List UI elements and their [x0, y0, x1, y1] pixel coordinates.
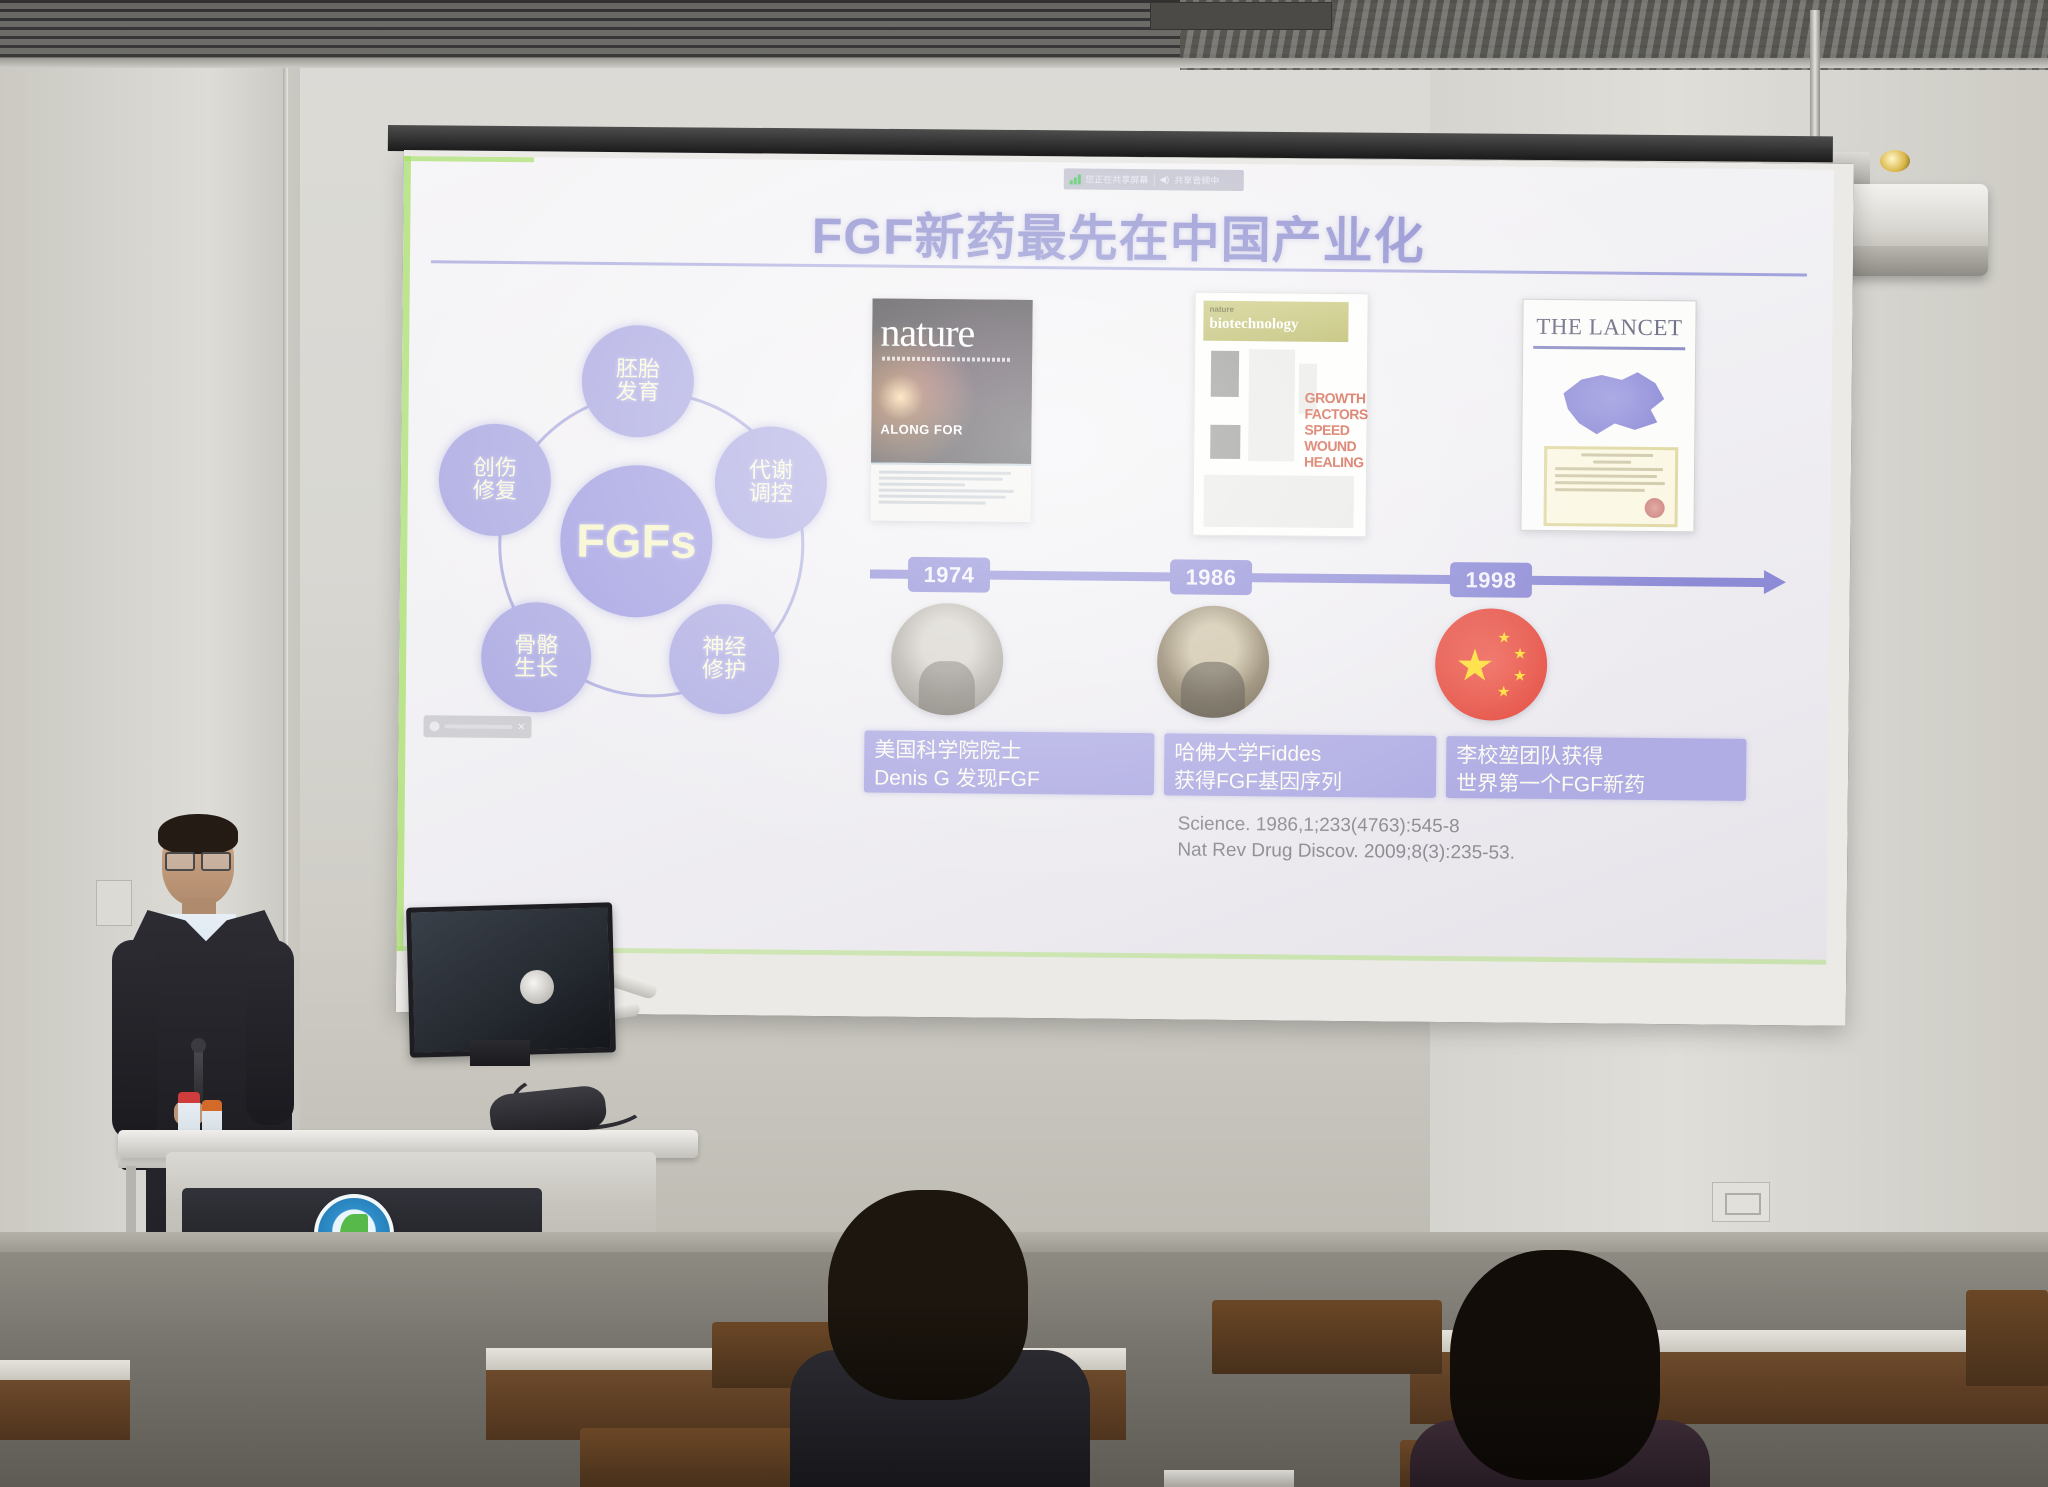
caption-3-line-2: 世界第一个FGF新药: [1456, 770, 1736, 800]
lancet-masthead: THE LANCET: [1523, 314, 1695, 342]
flag-star-2: ★: [1513, 647, 1527, 662]
mindmap-node-wound-repair: 创伤 修复: [438, 423, 551, 536]
journal-cover-nature-biotechnology: nature biotechnology GROWTH FACTORS SPEE…: [1192, 292, 1368, 538]
timeline-year-1: 1974: [908, 557, 990, 593]
timeline-caption-group: 美国科学院院士 Denis G 发现FGF 哈佛大学Fiddes 获得FGF基因…: [864, 730, 1805, 809]
certificate-seal: [1645, 498, 1665, 518]
caption-2-line-2: 获得FGF基因序列: [1174, 767, 1426, 797]
biotech-masthead-small: nature: [1210, 305, 1235, 314]
journal-cover-the-lancet: THE LANCET: [1520, 299, 1696, 533]
monitor-stand: [470, 1040, 530, 1066]
flag-star-3: ★: [1513, 669, 1527, 684]
audience-member-1-head: [828, 1190, 1028, 1400]
biotech-body-text: [1203, 475, 1353, 528]
slide-references: Science. 1986,1;233(4763):545-8 Nat Rev …: [1177, 811, 1515, 866]
flag-star-large: ★: [1455, 644, 1495, 688]
monitor-arm-joint: [520, 970, 554, 1004]
lancet-rule: [1533, 346, 1685, 350]
share-audio-text: 共享音频中: [1174, 173, 1219, 186]
certificate-graphic: [1544, 446, 1679, 527]
nature-cover-abstract: [871, 462, 1032, 522]
caption-1-line-2: Denis G 发现FGF: [874, 764, 1144, 794]
biotech-headline: GROWTH FACTORS SPEED WOUND HEALING: [1304, 390, 1357, 471]
timeline-caption-3: 李校堃团队获得 世界第一个FGF新药: [1446, 736, 1747, 801]
presenter-left-arm: [112, 940, 158, 1140]
flag-star-1: ★: [1497, 631, 1511, 646]
right-arrow-icon: [1764, 570, 1786, 594]
lectern-monitor[interactable]: [406, 902, 616, 1057]
caption-2-line-1: 哈佛大学Fiddes: [1174, 739, 1426, 769]
screen-share-banner[interactable]: 您正在共享屏幕 ◀) 共享音频中: [1064, 168, 1244, 191]
timeline-year-2: 1986: [1170, 559, 1252, 595]
presenter-right-arm: [246, 940, 294, 1125]
biotech-column-1: [1248, 349, 1295, 461]
fgf-timeline: 1974 1986 1998: [870, 553, 1800, 602]
journal-cover-nature: nature ALONG FOR: [871, 299, 1033, 523]
screenshot-root: EPSON 您正在共享屏幕 ◀) 共享音频中 FGF新药最先在中国产业化 FGF…: [0, 0, 2048, 1487]
nature-cover-line: ALONG FOR: [880, 423, 963, 437]
mindmap-node-center: FGFs: [560, 465, 713, 618]
journal-cover-group: nature ALONG FOR nature biotechnology: [870, 299, 1802, 538]
timeline-caption-2: 哈佛大学Fiddes 获得FGF基因序列: [1164, 733, 1437, 798]
biotech-figure-2: [1210, 425, 1240, 459]
front-desk-object: [1164, 1470, 1294, 1487]
onscreen-control-bar[interactable]: ✕: [423, 715, 531, 738]
audience-member-2-head: [1450, 1250, 1660, 1480]
caption-1-line-1: 美国科学院院士: [874, 737, 1144, 767]
banner-divider: [1153, 174, 1154, 186]
presentation-slide[interactable]: 您正在共享屏幕 ◀) 共享音频中 FGF新药最先在中国产业化 FGFs 胚胎 发…: [396, 156, 1834, 965]
caption-3-line-1: 李校堃团队获得: [1456, 742, 1736, 772]
close-icon[interactable]: ✕: [517, 722, 525, 733]
biotech-figure-1: [1211, 351, 1239, 397]
signal-bars-icon: [1070, 174, 1081, 184]
presenter-glasses: [165, 852, 231, 867]
timeline-caption-1: 美国科学院院士 Denis G 发现FGF: [864, 730, 1155, 795]
speaker-icon: ◀): [1159, 174, 1169, 185]
mindmap-node-embryonic-development: 胚胎 发育: [581, 325, 694, 438]
portrait-fiddes: [1157, 605, 1270, 718]
china-flag-icon: ★ ★ ★ ★ ★: [1435, 608, 1548, 721]
mindmap-node-metabolic-regulation: 代谢 调控: [714, 426, 827, 539]
timeline-portrait-group: ★ ★ ★ ★ ★: [869, 602, 1800, 729]
reference-2: Nat Rev Drug Discov. 2009;8(3):235-53.: [1177, 837, 1515, 866]
share-status-text: 您正在共享屏幕: [1085, 173, 1148, 187]
ceiling: [0, 0, 2048, 66]
flag-star-4: ★: [1497, 685, 1511, 700]
nature-cover-art: nature ALONG FOR: [871, 299, 1033, 465]
monitor-screen: [411, 907, 611, 1052]
control-bar-track: [445, 724, 513, 729]
wall-baseboard: [0, 1232, 2048, 1254]
mindmap-node-nerve-repair: 神经 修护: [669, 604, 780, 715]
fgf-mindmap: FGFs 胚胎 发育 创伤 修复 代谢 调控 骨骼 生长 神经 修护: [428, 331, 852, 805]
mindmap-node-bone-growth: 骨骼 生长: [481, 602, 592, 713]
desk-far-left: [0, 1380, 130, 1440]
china-map-graphic: [1556, 362, 1669, 441]
portrait-denis-gospodarowicz: [891, 603, 1004, 716]
timeline-year-3: 1998: [1450, 562, 1532, 598]
ceiling-vent: [1150, 2, 1332, 30]
drag-handle-icon[interactable]: [429, 721, 439, 731]
biotech-masthead-block: nature biotechnology: [1203, 301, 1348, 342]
presenter-hair: [158, 814, 238, 854]
chair-far-right: [1966, 1290, 2048, 1386]
desk-top-far-left: [0, 1360, 130, 1382]
projector-aux-lens: [1880, 150, 1910, 172]
chair-center-right: [1212, 1300, 1442, 1374]
wall-outlet[interactable]: [1712, 1182, 1770, 1222]
biotech-masthead: biotechnology: [1209, 316, 1298, 334]
nature-masthead-rule: [882, 357, 1012, 362]
timeline-axis: [870, 569, 1770, 587]
nature-masthead: nature: [880, 313, 974, 354]
reference-1: Science. 1986,1;233(4763):545-8: [1177, 811, 1515, 840]
slide-green-edge-top: [404, 156, 534, 162]
ceiling-edge: [0, 58, 2048, 68]
wall-switch-box: [96, 880, 132, 926]
